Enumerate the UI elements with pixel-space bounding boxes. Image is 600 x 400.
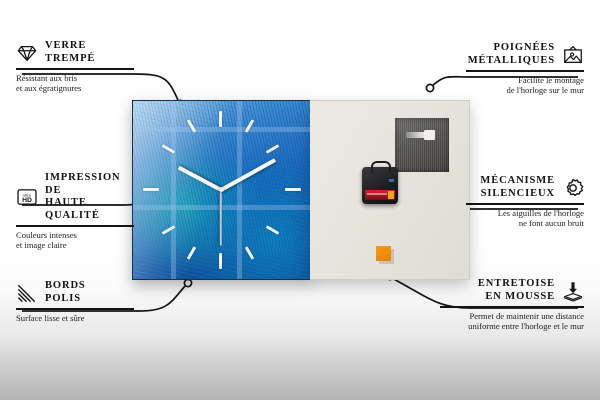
callout-impression-haute-qualite: ultra HD IMPRESSION DE HAUTE QUALITÉ Cou… xyxy=(16,172,134,251)
hour-tick xyxy=(143,188,159,191)
hour-tick xyxy=(219,253,222,269)
polished-edges-icon xyxy=(16,282,38,304)
callout-title-line2: SILENCIEUX xyxy=(480,188,555,201)
callout-desc-line1: Les aiguilles de l'horloge xyxy=(466,208,584,219)
callout-title-line1: VERRE xyxy=(45,40,95,53)
callout-title-line2: HAUTE QUALITÉ xyxy=(45,197,134,222)
callout-title-line2: EN MOUSSE xyxy=(440,291,555,304)
callout-title-line1: ENTRETOISE xyxy=(440,278,555,291)
battery-plus-terminal xyxy=(388,191,394,199)
product-photo xyxy=(132,100,469,280)
callout-title-line1: MÉCANISME xyxy=(480,175,555,188)
diamond-icon xyxy=(16,42,38,64)
callout-bords-polis: BORDS POLIS Surface lisse et sûre xyxy=(16,280,134,323)
callout-title-line1: IMPRESSION DE xyxy=(45,172,134,197)
clock-face-front xyxy=(132,100,312,280)
movement-hanger-loop xyxy=(371,161,391,173)
callout-rule xyxy=(466,70,584,72)
hanger-slot-hole xyxy=(424,130,435,140)
battery xyxy=(365,190,395,200)
callout-title-line2: POLIS xyxy=(45,293,86,306)
quartz-movement-box xyxy=(362,167,398,204)
callout-rule xyxy=(16,68,134,70)
callout-header: ultra HD IMPRESSION DE HAUTE QUALITÉ xyxy=(16,172,134,222)
callout-desc-line2: uniforme entre l'horloge et le mur xyxy=(440,321,584,332)
svg-text:HD: HD xyxy=(22,197,32,204)
battery-label-stripe xyxy=(367,193,387,195)
callout-rule xyxy=(16,308,134,310)
callout-title-line1: BORDS xyxy=(45,280,86,293)
callout-rule xyxy=(440,306,584,308)
hour-tick xyxy=(266,225,280,235)
callout-desc-line1: Permet de maintenir une distance xyxy=(440,311,584,322)
second-hand xyxy=(220,190,222,246)
callout-title-line2: TREMPÉ xyxy=(45,53,95,66)
callout-rule xyxy=(466,203,584,205)
callout-desc-line1: Facilite le montage xyxy=(466,75,584,86)
hour-tick xyxy=(245,246,255,260)
callout-desc-line1: Résistant aux bris xyxy=(16,73,134,84)
foam-spacer-pad xyxy=(376,246,391,261)
callout-mecanisme-silencieux: MÉCANISME SILENCIEUX Les aiguilles de l'… xyxy=(466,175,584,229)
callout-header: ENTRETOISE EN MOUSSE xyxy=(440,278,584,303)
anchor-poignees xyxy=(426,84,433,91)
callout-header: BORDS POLIS xyxy=(16,280,134,305)
callout-header: MÉCANISME SILENCIEUX xyxy=(466,175,584,200)
picture-hanger-icon xyxy=(562,44,584,66)
anchor-bords-polis xyxy=(184,279,191,286)
callout-desc-line2: ne font aucun bruit xyxy=(466,218,584,229)
callout-entretoise-en-mousse: ENTRETOISE EN MOUSSE Permet de maintenir… xyxy=(440,278,584,332)
clock-center-pin xyxy=(219,187,224,192)
infographic-canvas: VERRE TREMPÉ Résistant aux bris et aux é… xyxy=(0,0,600,400)
callout-poignees-metalliques: POIGNÉES MÉTALLIQUES Facilite le montage… xyxy=(466,42,584,96)
callout-title-line2: MÉTALLIQUES xyxy=(468,55,555,68)
callout-header: POIGNÉES MÉTALLIQUES xyxy=(466,42,584,67)
hour-tick xyxy=(266,144,280,154)
callout-desc-line1: Surface lisse et sûre xyxy=(16,313,134,324)
hour-tick xyxy=(219,111,222,127)
callout-verre-trempe: VERRE TREMPÉ Résistant aux bris et aux é… xyxy=(16,40,134,94)
metal-hanger-plate xyxy=(395,118,449,172)
callout-rule xyxy=(16,225,134,227)
callout-desc-line1: Couleurs intenses xyxy=(16,230,134,241)
clock-back-panel xyxy=(310,100,470,280)
callout-desc-line2: et aux égratignures xyxy=(16,83,134,94)
callout-header: VERRE TREMPÉ xyxy=(16,40,134,65)
callout-desc-line2: de l'horloge sur le mur xyxy=(466,85,584,96)
ultra-hd-badge-icon: ultra HD xyxy=(16,186,38,208)
callout-desc-line2: et image claire xyxy=(16,240,134,251)
pattern-line xyxy=(133,205,311,210)
callout-title-line1: POIGNÉES xyxy=(468,42,555,55)
foam-spacer-icon xyxy=(562,280,584,302)
hour-tick xyxy=(285,188,301,191)
movement-label xyxy=(389,179,394,182)
gear-icon xyxy=(562,177,584,199)
pattern-line xyxy=(133,127,311,132)
